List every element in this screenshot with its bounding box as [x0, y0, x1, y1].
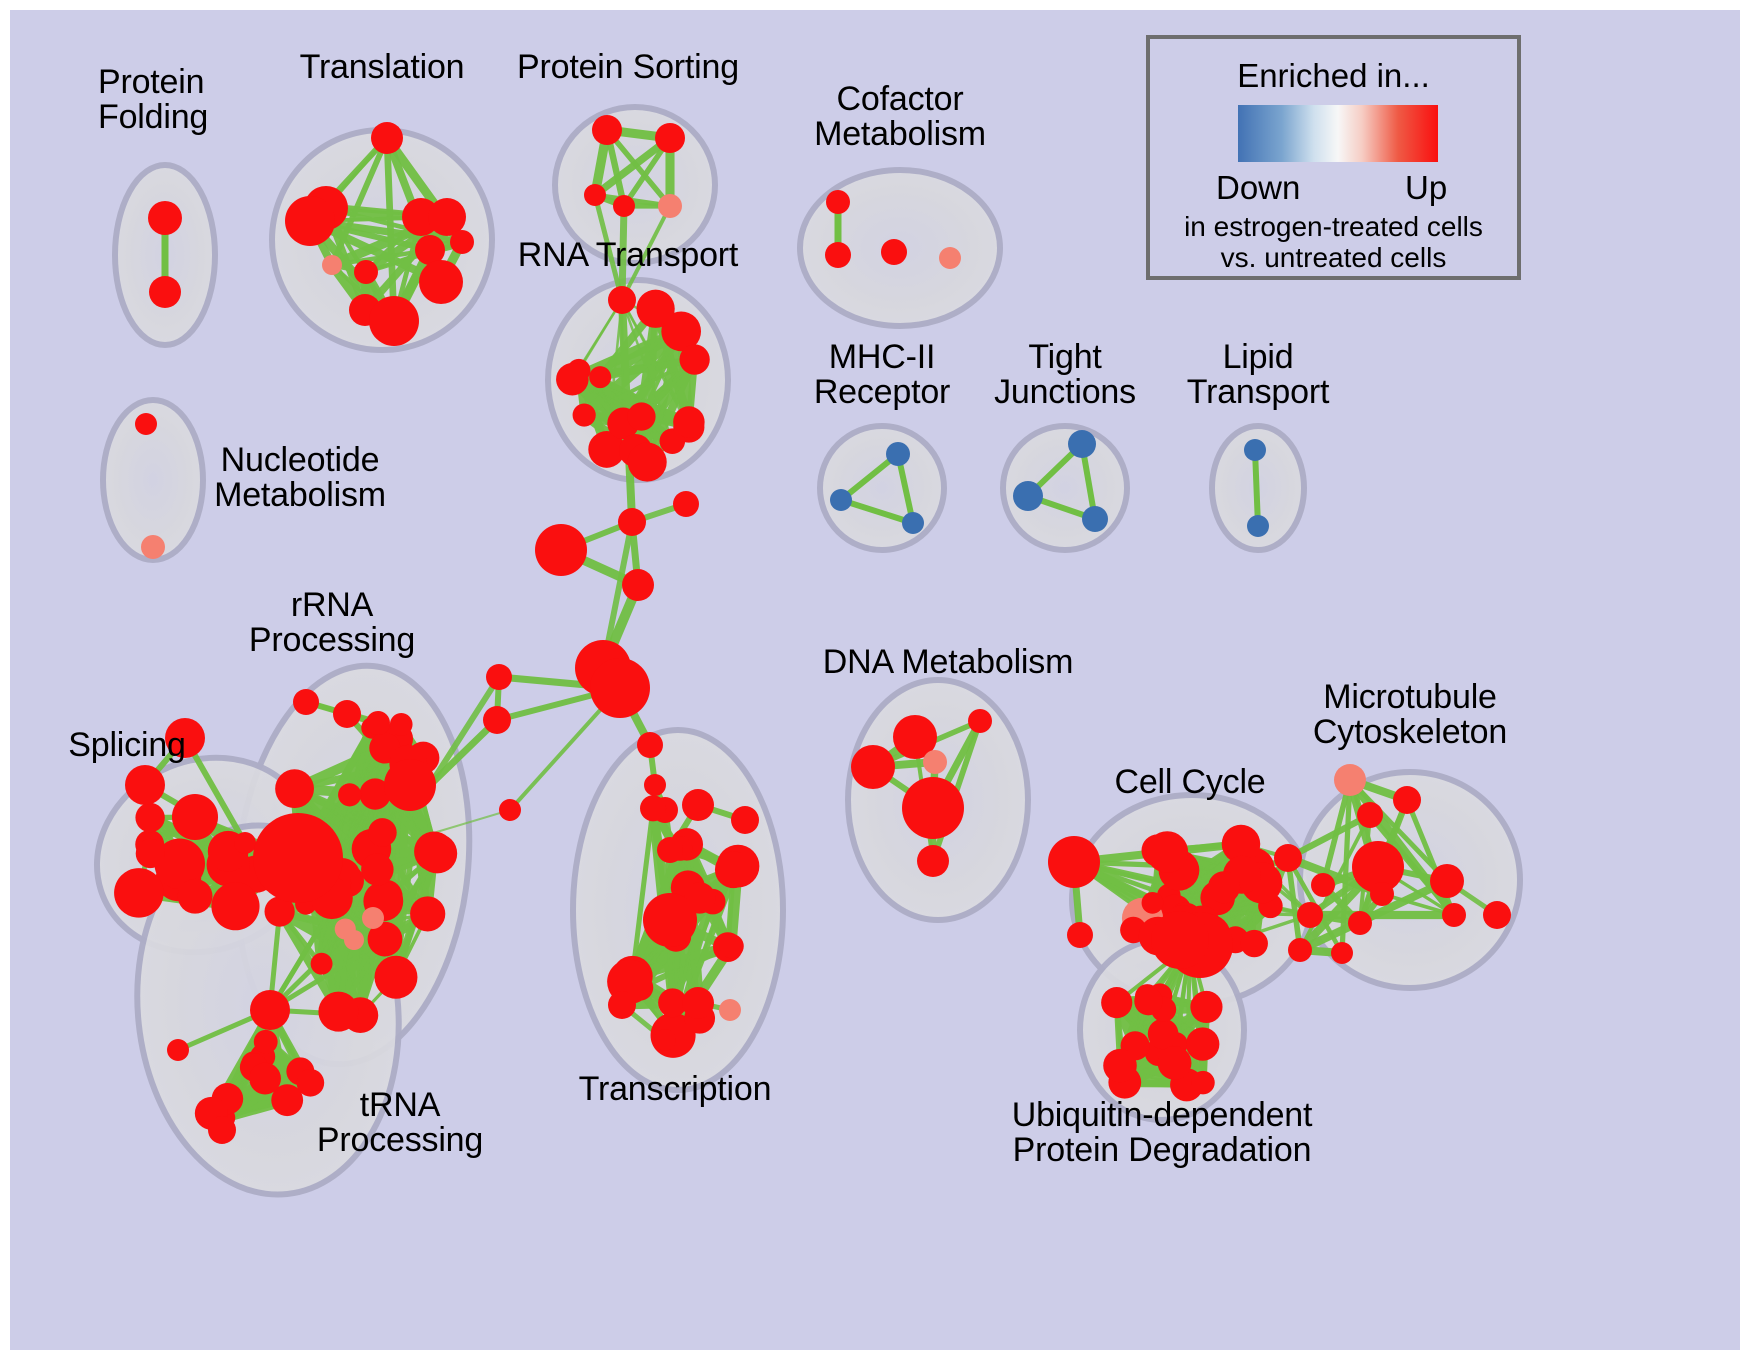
network-node	[556, 363, 588, 395]
network-canvas: Protein FoldingTranslationProtein Sortin…	[10, 10, 1740, 1350]
network-node	[178, 879, 213, 914]
network-node	[390, 713, 413, 736]
network-node	[679, 344, 709, 374]
network-node	[825, 242, 851, 268]
network-node	[125, 765, 165, 805]
network-node	[1142, 892, 1164, 914]
network-node	[1348, 911, 1372, 935]
network-node	[362, 907, 384, 929]
network-node	[658, 194, 682, 218]
network-node	[172, 794, 218, 840]
network-node	[654, 1029, 676, 1051]
network-node	[640, 795, 666, 821]
network-node	[731, 806, 759, 834]
network-node	[1191, 1071, 1214, 1094]
network-node	[719, 999, 741, 1021]
network-node	[573, 403, 596, 426]
network-node	[322, 255, 342, 275]
network-node	[1148, 1019, 1179, 1050]
network-node	[114, 868, 164, 918]
network-node	[234, 832, 256, 854]
network-node	[275, 769, 314, 808]
cluster-label-dna-metabolism: DNA Metabolism	[823, 645, 1073, 680]
network-node	[917, 845, 949, 877]
network-node	[354, 260, 378, 284]
network-node	[637, 732, 663, 758]
cluster-label-ubiquitin-protein-degradation: Ubiquitin-dependent Protein Degradation	[1012, 1098, 1313, 1169]
cluster-label-mhc-ii-receptor: MHC-II Receptor	[814, 340, 950, 411]
network-node	[344, 930, 364, 950]
figure-root: Protein FoldingTranslationProtein Sortin…	[0, 0, 1750, 1360]
network-node	[1190, 991, 1222, 1023]
network-node	[1208, 871, 1240, 903]
network-node	[1241, 930, 1268, 957]
network-node	[923, 750, 947, 774]
network-node	[1274, 844, 1302, 872]
network-node	[149, 276, 181, 308]
network-node	[613, 195, 635, 217]
network-node	[499, 799, 521, 821]
network-node	[135, 413, 157, 435]
network-node	[1247, 515, 1269, 537]
network-node	[1103, 1049, 1137, 1083]
network-node	[1370, 882, 1394, 906]
network-node	[608, 286, 636, 314]
network-node	[886, 442, 910, 466]
network-node	[643, 893, 697, 947]
cluster-label-tight-junctions: Tight Junctions	[994, 340, 1136, 411]
network-node	[249, 1063, 281, 1095]
network-node	[338, 783, 361, 806]
cluster-label-transcription: Transcription	[579, 1072, 772, 1107]
network-node	[135, 803, 164, 832]
network-node	[1430, 864, 1464, 898]
network-node	[417, 834, 457, 874]
network-node	[1311, 873, 1335, 897]
network-node	[419, 260, 463, 304]
network-node	[627, 402, 655, 430]
legend-box: Enriched in... Down Up in estrogen-treat…	[1146, 35, 1521, 280]
network-node	[1442, 903, 1466, 927]
cluster-ellipse-mhc-ii-receptor	[820, 426, 944, 550]
network-node	[618, 508, 646, 536]
cluster-label-nucleotide-metabolism: Nucleotide Metabolism	[214, 443, 386, 514]
network-node	[250, 990, 290, 1030]
network-node	[939, 247, 961, 269]
legend-title: Enriched in...	[1150, 57, 1517, 95]
network-node	[318, 992, 358, 1032]
network-node	[1186, 1027, 1219, 1060]
network-node	[682, 789, 714, 821]
cluster-label-splicing: Splicing	[68, 728, 185, 763]
network-node	[285, 196, 335, 246]
network-node	[715, 851, 752, 888]
network-node	[1334, 764, 1366, 796]
cluster-label-translation: Translation	[300, 50, 465, 85]
network-node	[1288, 938, 1312, 962]
network-node	[628, 443, 667, 482]
network-node	[333, 700, 361, 728]
network-node	[1393, 786, 1421, 814]
network-node	[644, 774, 666, 796]
cluster-label-trna-processing: tRNA Processing	[317, 1088, 483, 1159]
network-node	[1158, 1046, 1192, 1080]
network-node	[1101, 987, 1132, 1018]
cluster-label-rrna-processing: rRNA Processing	[249, 588, 415, 659]
network-node	[293, 689, 319, 715]
network-node	[584, 184, 606, 206]
network-node	[590, 658, 650, 718]
network-node	[1013, 481, 1043, 511]
network-node	[608, 991, 636, 1019]
network-node	[851, 745, 895, 789]
network-node	[211, 882, 259, 930]
network-node	[826, 190, 850, 214]
network-node	[682, 987, 714, 1019]
network-node	[1134, 987, 1162, 1015]
network-node	[253, 813, 343, 903]
network-node	[902, 512, 924, 534]
network-node	[1151, 911, 1209, 969]
network-node	[254, 1030, 278, 1054]
network-node	[1048, 836, 1100, 888]
network-node	[368, 818, 397, 847]
legend-color-gradient	[1238, 105, 1438, 162]
network-node	[589, 366, 611, 388]
network-node	[657, 837, 683, 863]
network-node	[141, 535, 165, 559]
network-node	[208, 1116, 236, 1144]
network-node	[1297, 902, 1323, 928]
network-node	[622, 569, 654, 601]
cluster-label-microtubule-cytoskeleton: Microtubule Cytoskeleton	[1313, 680, 1507, 751]
network-node	[374, 956, 417, 999]
network-node	[1483, 901, 1511, 929]
network-node	[830, 489, 852, 511]
network-node	[1244, 439, 1266, 461]
network-node	[486, 664, 512, 690]
network-node	[450, 230, 474, 254]
network-node	[410, 896, 445, 931]
network-edge	[1255, 450, 1258, 526]
cluster-label-rna-transport: RNA Transport	[518, 238, 738, 273]
network-node	[1146, 831, 1188, 873]
legend-low-label: Down	[1216, 169, 1300, 207]
network-node	[902, 777, 964, 839]
cluster-label-protein-folding: Protein Folding	[98, 65, 208, 136]
network-node	[1082, 506, 1108, 532]
network-node	[592, 115, 622, 145]
network-node	[719, 934, 743, 958]
network-node	[655, 123, 685, 153]
network-node	[636, 290, 674, 328]
cluster-label-cell-cycle: Cell Cycle	[1114, 765, 1265, 800]
network-node	[311, 953, 333, 975]
network-node	[167, 1039, 189, 1061]
cluster-label-cofactor-metabolism: Cofactor Metabolism	[814, 82, 986, 153]
legend-high-label: Up	[1405, 169, 1447, 207]
network-node	[369, 296, 419, 346]
network-node	[673, 491, 699, 517]
network-node	[384, 759, 436, 811]
cluster-label-lipid-transport: Lipid Transport	[1187, 340, 1329, 411]
network-node	[1357, 802, 1383, 828]
network-node	[881, 239, 907, 265]
network-node	[535, 524, 587, 576]
network-node	[361, 853, 393, 885]
legend-subtitle-line1: in estrogen-treated cells	[1184, 211, 1483, 242]
network-node	[366, 711, 390, 735]
network-node	[148, 201, 182, 235]
legend-subtitle-line2: vs. untreated cells	[1221, 242, 1447, 273]
cluster-label-protein-sorting: Protein Sorting	[517, 50, 739, 85]
legend-subtitle: in estrogen-treated cellsvs. untreated c…	[1150, 211, 1517, 274]
network-node	[1067, 922, 1093, 948]
network-node	[968, 709, 992, 733]
network-node	[136, 839, 165, 868]
network-node	[1068, 430, 1096, 458]
network-node	[1331, 942, 1353, 964]
network-node	[483, 706, 511, 734]
network-node	[673, 406, 704, 437]
network-node	[371, 122, 403, 154]
